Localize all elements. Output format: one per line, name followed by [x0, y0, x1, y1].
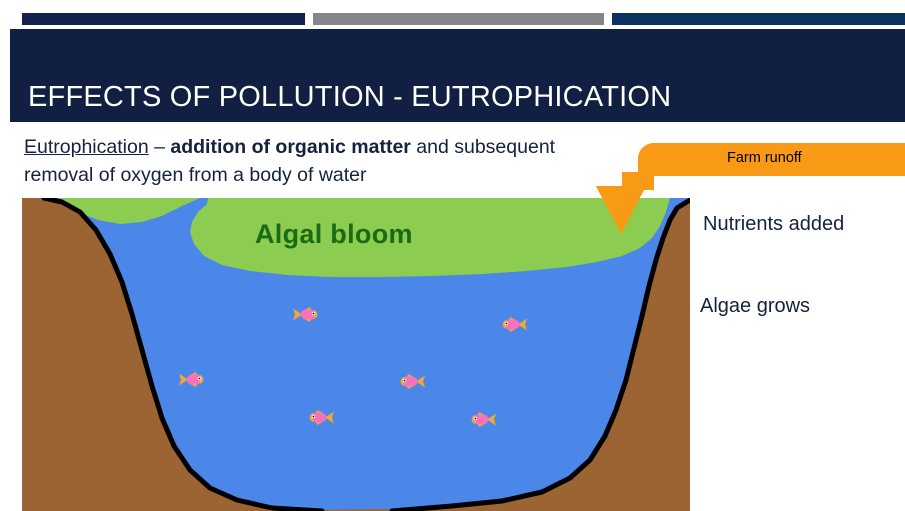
fish-5 — [305, 409, 335, 426]
fish-3 — [178, 371, 208, 388]
label-algae-grows: Algae grows — [700, 295, 810, 318]
farm-runoff-label: Farm runoff — [727, 150, 802, 166]
page-title: EFFECTS OF POLLUTION - EUTROPHICATION — [28, 81, 671, 114]
top-bar-gray — [313, 13, 604, 25]
definition-emphasis: addition of organic matter — [170, 136, 411, 158]
fish-1 — [292, 306, 322, 323]
algal-bloom-label: Algal bloom — [255, 219, 413, 250]
title-banner: EFFECTS OF POLLUTION - EUTROPHICATION — [10, 29, 905, 122]
top-bar-blue — [612, 13, 905, 25]
top-bar-navy — [22, 13, 305, 25]
definition-dash: – — [149, 136, 171, 158]
top-decorative-bars — [0, 0, 905, 28]
definition-term: Eutrophication — [24, 136, 149, 158]
fish-6 — [467, 411, 497, 428]
fish-2 — [498, 316, 528, 333]
fish-4 — [396, 373, 426, 390]
label-nutrients-added: Nutrients added — [703, 213, 844, 236]
definition-paragraph: Eutrophication – addition of organic mat… — [24, 133, 594, 189]
